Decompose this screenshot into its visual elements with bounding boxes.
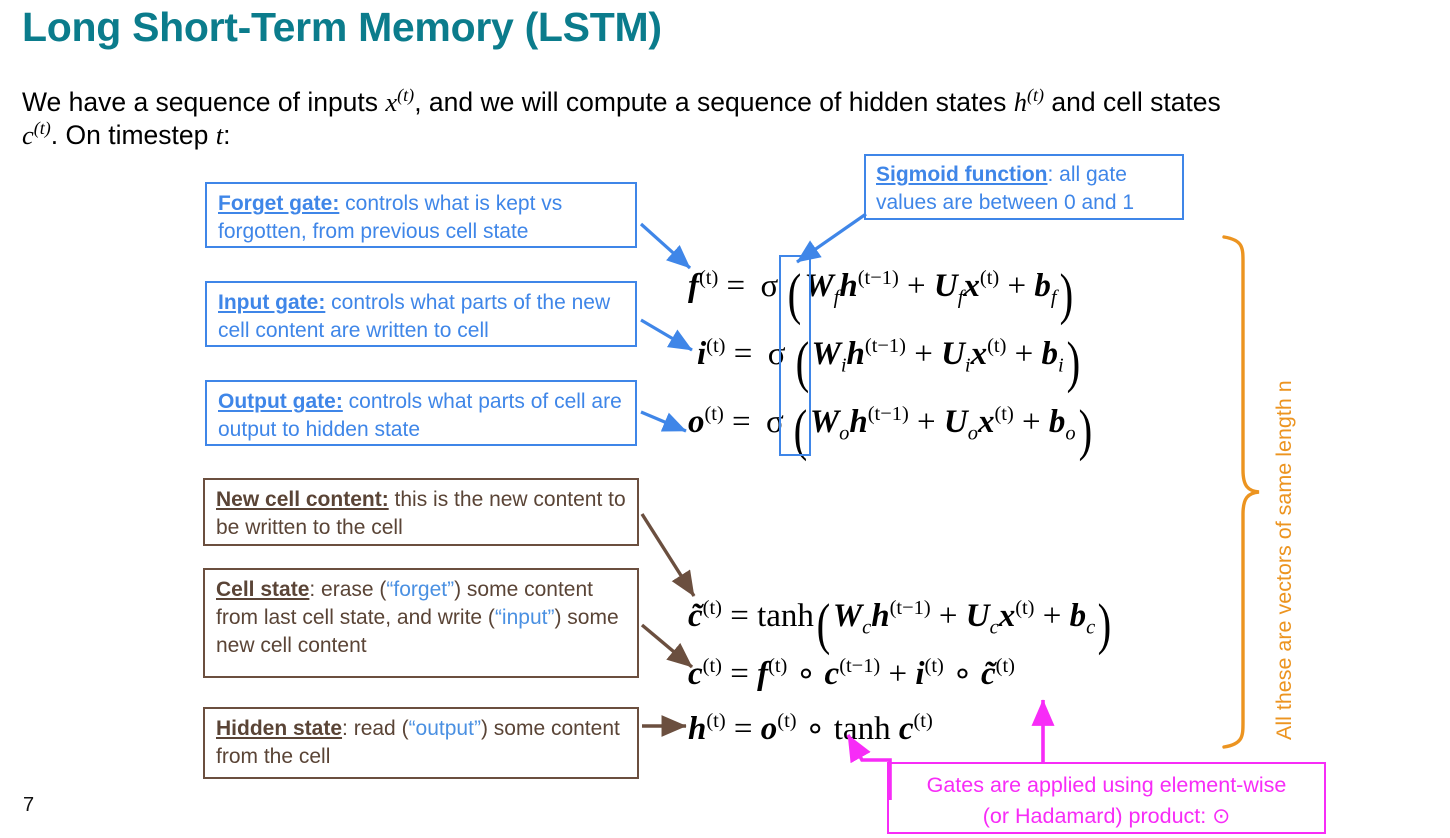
eq-f-x-sup: (t): [980, 267, 999, 289]
callout-hadamard-product: Gates are applied using element-wise (or…: [887, 762, 1326, 834]
eq-c-ctilde: c̃: [981, 656, 996, 692]
intro-text-3: and cell states: [1044, 87, 1221, 117]
eq-o-h-sup: (t−1): [868, 403, 909, 425]
callout-cell-state-text-1: : erase (: [309, 578, 386, 601]
eq-h-c-sup: (t): [913, 710, 932, 732]
eq-f-plus-1: +: [907, 268, 926, 304]
intro-text-5: :: [223, 120, 230, 150]
equation-new-cell-content: c̃(t) = tanh(Wch(t−1) + Ucx(t) + bc): [688, 592, 1114, 657]
equation-cell-state: c(t) = f(t) ∘ c(t−1) + i(t) ∘ c̃(t): [688, 653, 1015, 693]
eq-ct-h: h: [871, 598, 889, 634]
eq-f-b: b: [1034, 268, 1051, 304]
callout-hidden-state-label: Hidden state: [216, 717, 342, 740]
arrow-cell-state-to-equation: [642, 625, 692, 667]
eq-ct-W: W: [833, 598, 862, 634]
eq-c-ctilde-sup: (t): [996, 655, 1015, 677]
callout-sigmoid-function: Sigmoid function: all gate values are be…: [864, 154, 1184, 220]
eq-ct-paren-open: (: [817, 592, 831, 657]
eq-ct-U: U: [966, 598, 990, 634]
eq-i-lhs-sup: (t): [706, 335, 725, 357]
eq-ct-paren-close: ): [1098, 592, 1112, 657]
eq-i-h-sup: (t−1): [865, 335, 906, 357]
callout-cell-state-label: Cell state: [216, 578, 309, 601]
eq-h-c: c: [899, 711, 914, 747]
eq-h-lhs-sup: (t): [706, 710, 725, 732]
callout-hidden-state: Hidden state: read (“output”) some conte…: [203, 707, 639, 779]
intro-text-4: . On timestep: [51, 120, 216, 150]
eq-c-lhs: c: [688, 656, 703, 692]
callout-forget-gate: Forget gate: controls what is kept vs fo…: [205, 182, 637, 248]
eq-o-equals: =: [732, 404, 751, 440]
arrow-output-to-equation: [641, 412, 686, 431]
eq-o-U-sub: o: [968, 423, 978, 445]
eq-i-W: W: [812, 336, 841, 372]
eq-o-plus-1: +: [917, 404, 936, 440]
page-title: Long Short-Term Memory (LSTM): [22, 4, 662, 51]
eq-c-circ-1: ∘: [796, 656, 817, 692]
eq-ct-lhs: c̃: [688, 598, 703, 634]
arrow-input-to-equation: [641, 320, 692, 350]
eq-ct-plus-2: +: [1043, 598, 1062, 634]
eq-c-lhs-sup: (t): [703, 655, 722, 677]
intro-symbol-c: c: [22, 120, 34, 150]
eq-o-U: U: [944, 404, 968, 440]
eq-o-b: b: [1049, 404, 1066, 440]
callout-new-cell-content: New cell content: this is the new conten…: [203, 478, 639, 546]
intro-sup-c: (t): [34, 118, 51, 138]
callout-sigmoid-label: Sigmoid function: [876, 163, 1047, 186]
eq-f-h-sup: (t−1): [858, 267, 899, 289]
eq-o-h: h: [849, 404, 867, 440]
eq-o-lhs-sup: (t): [705, 403, 724, 425]
page-number: 7: [23, 794, 34, 817]
eq-i-lhs: i: [697, 336, 706, 372]
eq-o-W-sub: o: [839, 423, 849, 445]
eq-ct-U-sub: c: [990, 617, 999, 639]
eq-o-plus-2: +: [1022, 404, 1041, 440]
equation-input-gate: i(t) = σ(Wih(t−1) + Uix(t) + bi): [697, 330, 1083, 395]
callout-hadamard-line-1: Gates are applied using element-wise: [897, 770, 1316, 801]
eq-f-sigma: σ: [761, 268, 779, 304]
eq-i-plus-1: +: [914, 336, 933, 372]
eq-i-plus-2: +: [1015, 336, 1034, 372]
eq-f-U: U: [934, 268, 958, 304]
eq-i-x: x: [971, 336, 988, 372]
eq-f-lhs-sup: (t): [699, 267, 718, 289]
equation-hidden-state: h(t) = o(t) ∘ tanh c(t): [688, 708, 933, 748]
eq-o-paren-close: ): [1078, 398, 1092, 463]
callout-forget-gate-label: Forget gate:: [218, 192, 339, 215]
callout-hidden-state-text-1: : read (: [342, 717, 409, 740]
callout-input-gate-label: Input gate:: [218, 291, 325, 314]
arrow-forget-to-equation: [641, 224, 690, 268]
equation-output-gate: o(t) = σ(Woh(t−1) + Uox(t) + bo): [688, 398, 1095, 463]
callout-output-gate: Output gate: controls what parts of cell…: [205, 380, 637, 446]
eq-h-lhs: h: [688, 711, 706, 747]
intro-paragraph: We have a sequence of inputs x(t), and w…: [22, 86, 1422, 152]
brace-label: All these are vectors of same length n: [1272, 380, 1297, 740]
eq-f-lhs: f: [688, 268, 699, 304]
callout-new-cell-content-label: New cell content:: [216, 488, 389, 511]
eq-o-x-sup: (t): [994, 403, 1013, 425]
intro-symbol-t: t: [216, 120, 223, 150]
eq-c-i-sup: (t): [925, 655, 944, 677]
eq-f-paren-close: ): [1059, 262, 1073, 327]
callout-output-gate-label: Output gate:: [218, 390, 343, 413]
eq-f-b-sub: f: [1051, 287, 1057, 309]
eq-c-circ-2: ∘: [952, 656, 973, 692]
eq-ct-h-sup: (t−1): [890, 597, 931, 619]
eq-o-x: x: [978, 404, 995, 440]
callout-hidden-state-quote-output: “output”: [409, 717, 481, 740]
eq-ct-b: b: [1070, 598, 1087, 634]
eq-h-circ: ∘: [805, 711, 826, 747]
eq-c-f-sup: (t): [768, 655, 787, 677]
eq-i-h: h: [847, 336, 865, 372]
eq-c-equals: =: [730, 656, 749, 692]
eq-i-b-sub: i: [1058, 355, 1064, 377]
intro-sup-x: (t): [397, 85, 414, 105]
eq-h-equals: =: [734, 711, 753, 747]
equation-forget-gate: f(t) = σ(Wfh(t−1) + Ufx(t) + bf): [688, 262, 1075, 327]
eq-i-x-sup: (t): [987, 335, 1006, 357]
eq-ct-tanh: tanh: [757, 598, 814, 634]
eq-o-lhs: o: [688, 404, 705, 440]
eq-i-b: b: [1042, 336, 1059, 372]
eq-c-cprev-sup: (t−1): [839, 655, 880, 677]
eq-ct-lhs-sup: (t): [703, 597, 722, 619]
intro-symbol-h: h: [1014, 87, 1027, 117]
eq-c-plus: +: [889, 656, 908, 692]
intro-sup-h: (t): [1027, 85, 1044, 105]
sigmoid-highlight-rect: [779, 255, 811, 456]
intro-symbol-x: x: [385, 87, 397, 117]
eq-h-o: o: [761, 711, 778, 747]
eq-f-x: x: [963, 268, 980, 304]
slide-canvas: Long Short-Term Memory (LSTM) We have a …: [0, 0, 1450, 838]
eq-f-h: h: [839, 268, 857, 304]
eq-i-equals: =: [734, 336, 753, 372]
eq-ct-x: x: [999, 598, 1016, 634]
eq-o-b-sub: o: [1065, 423, 1075, 445]
brace-label-container: All these are vectors of same length n: [1272, 740, 1273, 741]
eq-f-plus-2: +: [1007, 268, 1026, 304]
orange-brace: [1224, 237, 1259, 747]
callout-hadamard-line-2: (or Hadamard) product: ⊙: [897, 801, 1316, 832]
intro-text-2: , and we will compute a sequence of hidd…: [414, 87, 1014, 117]
eq-f-equals: =: [727, 268, 746, 304]
eq-c-i: i: [915, 656, 924, 692]
eq-i-U: U: [941, 336, 965, 372]
eq-o-W: W: [810, 404, 839, 440]
eq-ct-W-sub: c: [862, 617, 871, 639]
eq-ct-x-sup: (t): [1015, 597, 1034, 619]
eq-ct-b-sub: c: [1086, 617, 1095, 639]
eq-ct-plus-1: +: [939, 598, 958, 634]
arrow-new-cell-content-to-equation: [642, 514, 694, 596]
callout-cell-state-quote-input: “input”: [495, 606, 555, 629]
eq-ct-equals: =: [730, 598, 749, 634]
eq-c-f: f: [757, 656, 768, 692]
eq-h-tanh: tanh: [834, 711, 891, 747]
eq-c-cprev: c: [825, 656, 840, 692]
eq-i-paren-close: ): [1066, 330, 1080, 395]
intro-text-1: We have a sequence of inputs: [22, 87, 385, 117]
callout-input-gate: Input gate: controls what parts of the n…: [205, 281, 637, 347]
callout-cell-state: Cell state: erase (“forget”) some conten…: [203, 568, 639, 678]
eq-h-o-sup: (t): [777, 710, 796, 732]
callout-cell-state-quote-forget: “forget”: [386, 578, 454, 601]
